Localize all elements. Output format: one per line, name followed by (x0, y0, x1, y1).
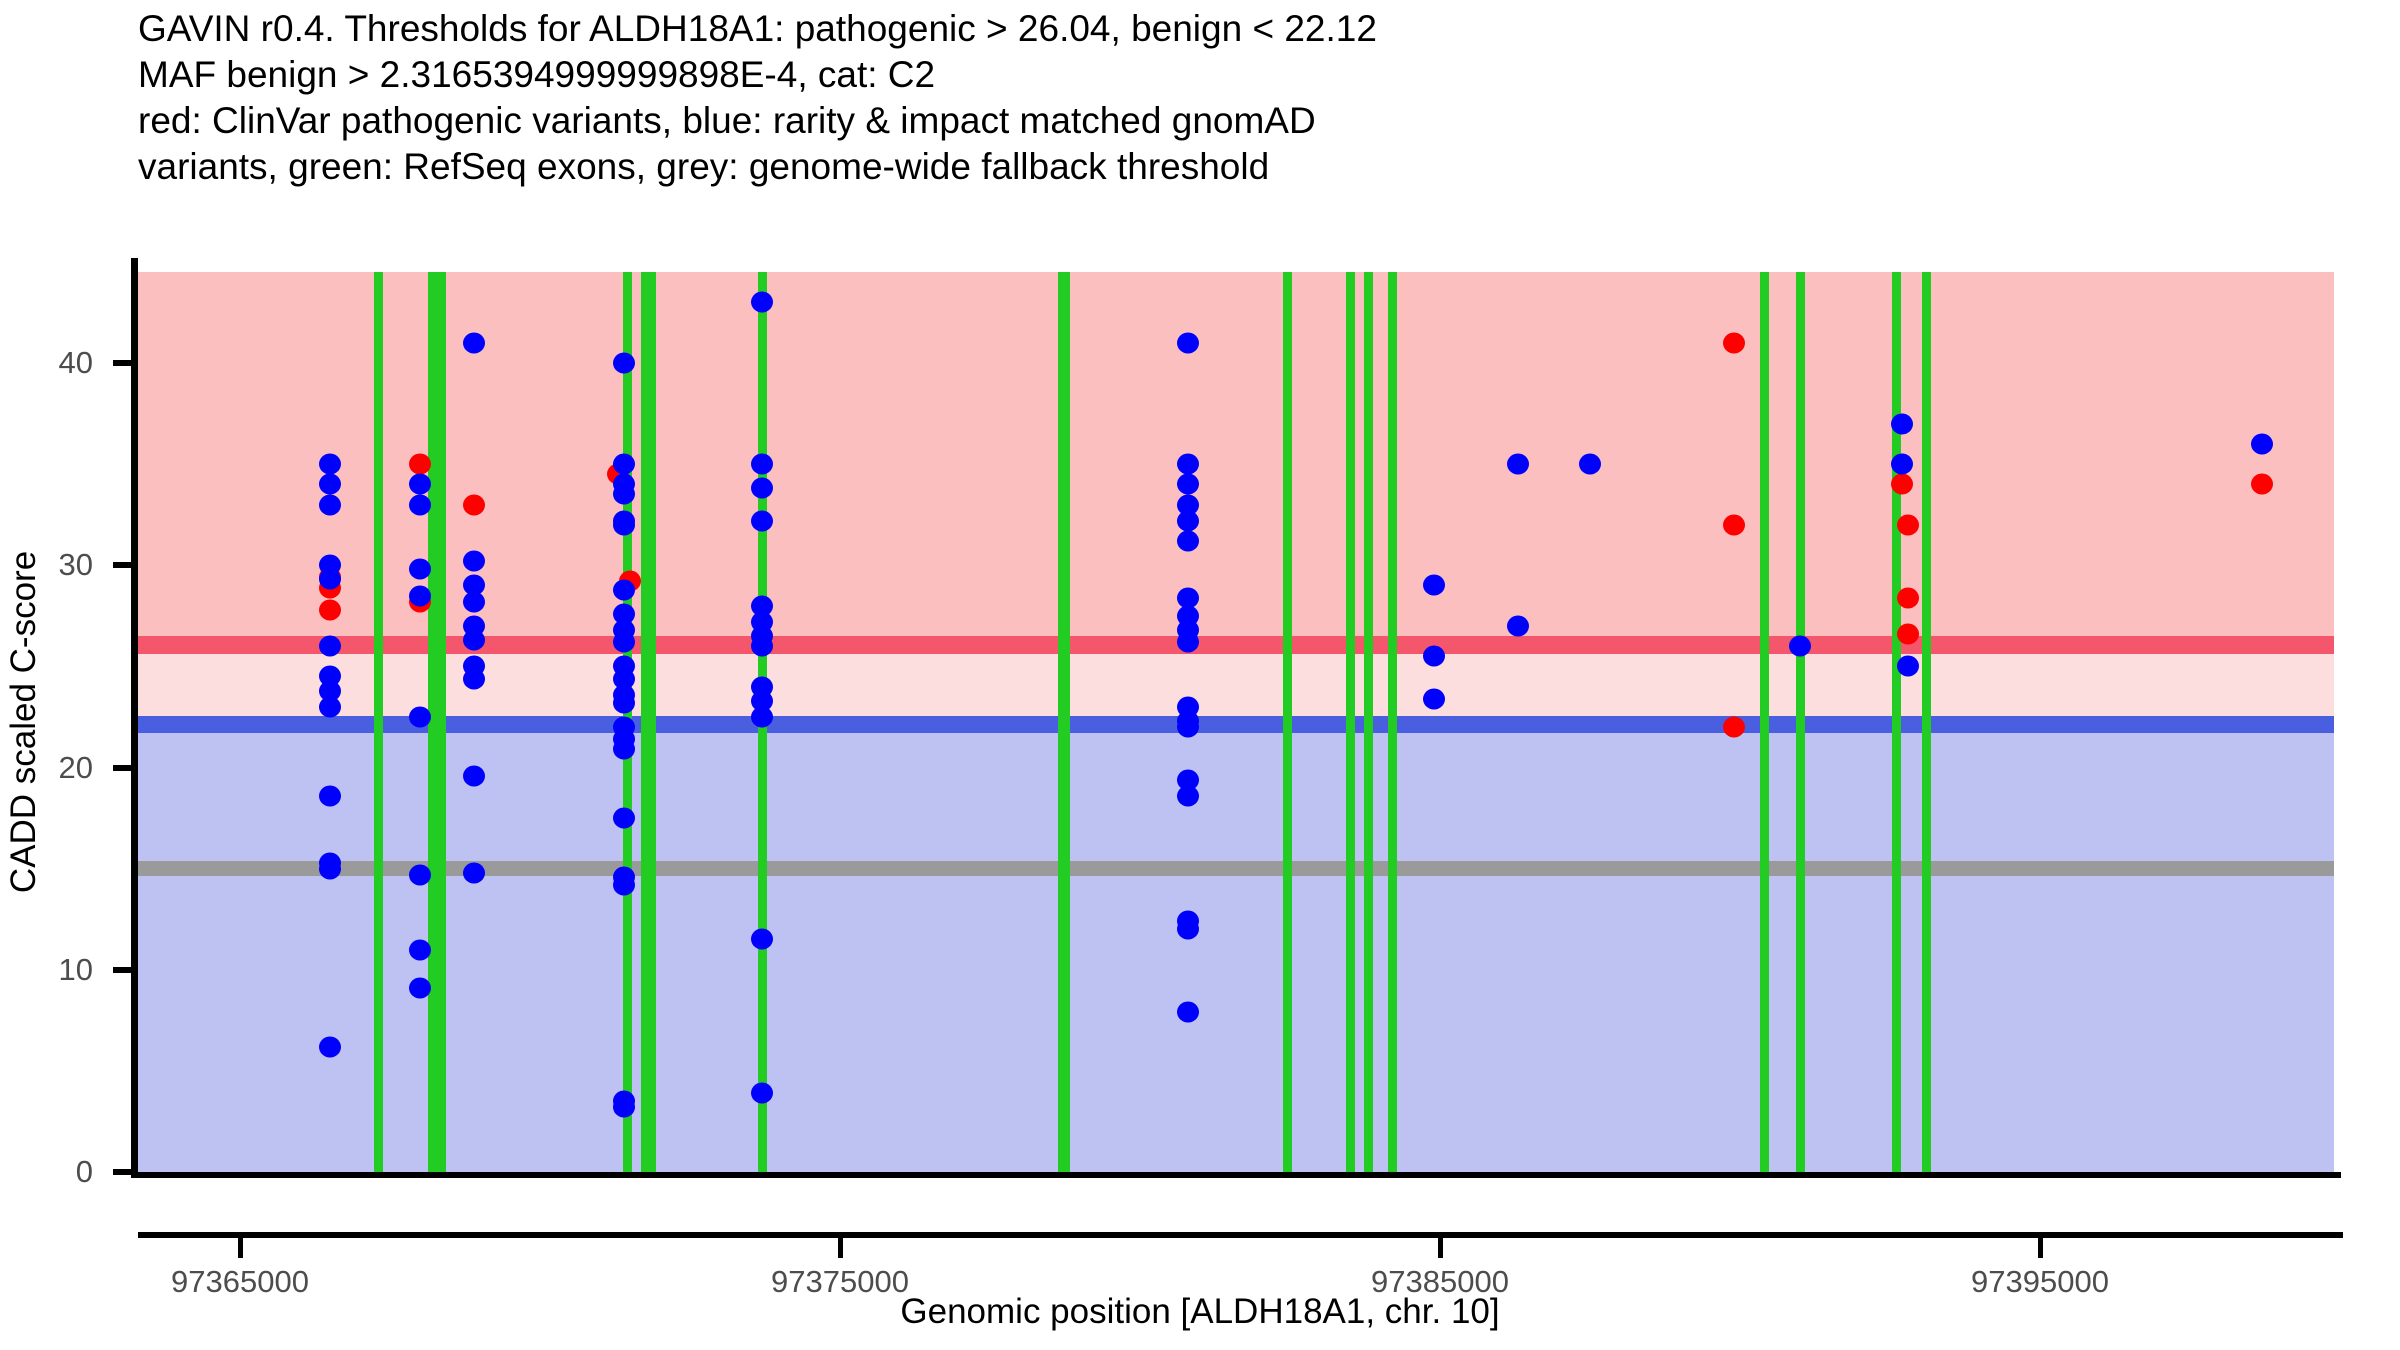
gnomad-variant-point (463, 551, 485, 572)
pathogenic-variant-point (463, 494, 485, 515)
gnomad-variant-point (751, 454, 773, 475)
x-axis-line (138, 1232, 2343, 1238)
gnomad-variant-point (751, 1083, 773, 1104)
gnomad-variant-point (613, 739, 635, 760)
gnomad-variant-point (1579, 454, 1601, 475)
y-axis-tick-mark (113, 562, 131, 568)
gnomad-variant-point (409, 559, 431, 580)
gnomad-variant-point (2251, 433, 2273, 454)
refseq-exon-marker (1346, 272, 1355, 1172)
refseq-exon-marker (437, 272, 446, 1172)
gnomad-variant-point (463, 332, 485, 353)
pathogenic-variant-point (1891, 474, 1913, 495)
benign-region (138, 733, 2334, 1172)
gnomad-variant-point (1177, 454, 1199, 475)
pathogenic-variant-point (2251, 474, 2273, 495)
x-axis-tick-mark (838, 1238, 843, 1258)
gnomad-variant-point (409, 864, 431, 885)
gnomad-variant-point (1177, 717, 1199, 738)
title-line-4: variants, green: RefSeq exons, grey: gen… (138, 144, 2238, 190)
pathogenic-variant-point (1897, 624, 1919, 645)
y-axis-tick-label: 0 (76, 1154, 93, 1190)
y-axis-tick-label: 20 (59, 750, 93, 786)
refseq-exon-marker (1283, 272, 1292, 1172)
gnomad-variant-point (409, 939, 431, 960)
chart-root: GAVIN r0.4. Thresholds for ALDH18A1: pat… (0, 0, 2400, 1350)
gnomad-variant-point (613, 353, 635, 374)
refseq-exon-marker (1922, 272, 1931, 1172)
gnomad-variant-point (463, 862, 485, 883)
gnomad-variant-point (751, 706, 773, 727)
refseq-exon-marker (1388, 272, 1397, 1172)
pathogenic-variant-point (319, 599, 341, 620)
refseq-exon-marker (374, 272, 383, 1172)
y-axis-tick-mark (113, 1169, 131, 1175)
gnomad-variant-point (613, 808, 635, 829)
refseq-exon-marker (1892, 272, 1901, 1172)
title-line-3: red: ClinVar pathogenic variants, blue: … (138, 98, 2238, 144)
x-axis-baseline (131, 1172, 2341, 1178)
benign-threshold (138, 716, 2334, 733)
gnomad-variant-point (409, 494, 431, 515)
refseq-exon-marker (647, 272, 656, 1172)
gnomad-variant-point (463, 668, 485, 689)
y-axis-title: CADD scaled C-score (4, 551, 44, 893)
gnomad-variant-point (1177, 510, 1199, 531)
x-axis-tick-mark (2038, 1238, 2043, 1258)
gnomad-variant-point (319, 569, 341, 590)
y-axis-tick-label: 30 (59, 547, 93, 583)
gnomad-variant-point (319, 858, 341, 879)
y-axis-tick-mark (113, 765, 131, 771)
title-line-2: MAF benign > 2.3165394999999898E-4, cat:… (138, 52, 2238, 98)
gnomad-variant-point (613, 632, 635, 653)
chart-title-block: GAVIN r0.4. Thresholds for ALDH18A1: pat… (138, 6, 2238, 190)
refseq-exon-marker (1796, 272, 1805, 1172)
plot-panel (138, 272, 2334, 1172)
gnomad-variant-point (1423, 575, 1445, 596)
gnomad-variant-point (1423, 646, 1445, 667)
y-axis-tick-label: 10 (59, 952, 93, 988)
x-axis-title: Genomic position [ALDH18A1, chr. 10] (0, 1292, 2400, 1332)
gnomad-variant-point (1177, 632, 1199, 653)
gnomad-variant-point (409, 474, 431, 495)
gnomad-variant-point (409, 977, 431, 998)
y-axis-line (131, 258, 138, 1178)
gnomad-variant-point (613, 514, 635, 535)
refseq-exon-marker (1364, 272, 1373, 1172)
gnomad-variant-point (751, 636, 773, 657)
x-axis-tick-mark (238, 1238, 243, 1258)
gnomad-variant-point (751, 292, 773, 313)
pathogenic-variant-point (1723, 514, 1745, 535)
gnomad-variant-point (751, 510, 773, 531)
gnomad-variant-point (751, 478, 773, 499)
pathogenic-variant-point (1897, 587, 1919, 608)
gnomad-variant-point (1891, 413, 1913, 434)
gnomad-variant-point (1891, 454, 1913, 475)
title-line-1: GAVIN r0.4. Thresholds for ALDH18A1: pat… (138, 6, 2238, 52)
pathogenic-variant-point (1897, 514, 1919, 535)
gnomad-variant-point (751, 929, 773, 950)
gnomad-variant-point (319, 494, 341, 515)
refseq-exon-marker (1760, 272, 1769, 1172)
gnomad-variant-point (613, 692, 635, 713)
y-axis-tick-mark (113, 360, 131, 366)
gnomad-variant-point (319, 1036, 341, 1057)
gnomad-variant-point (1177, 474, 1199, 495)
gnomad-variant-point (1507, 454, 1529, 475)
gnomad-variant-point (1177, 332, 1199, 353)
gnomad-variant-point (319, 696, 341, 717)
gnomad-variant-point (613, 454, 635, 475)
pathogenic-variant-point (1723, 332, 1745, 353)
gnomad-variant-point (1177, 785, 1199, 806)
gnomad-variant-point (463, 630, 485, 651)
gnomad-variant-point (1177, 1002, 1199, 1023)
gnomad-variant-point (319, 454, 341, 475)
gnomad-variant-point (1423, 688, 1445, 709)
pathogenic-variant-point (409, 454, 431, 475)
x-axis-tick-mark (1438, 1238, 1443, 1258)
gnomad-variant-point (409, 585, 431, 606)
plot-frame (138, 272, 2334, 1172)
gnomad-variant-point (613, 874, 635, 895)
gnomad-variant-point (1897, 656, 1919, 677)
gnomad-variant-point (409, 706, 431, 727)
gnomad-variant-point (1177, 530, 1199, 551)
pathogenic-variant-point (1723, 717, 1745, 738)
gnomad-variant-point (319, 785, 341, 806)
gnomad-variant-point (319, 636, 341, 657)
gnomad-variant-point (1789, 636, 1811, 657)
gnomad-variant-point (613, 1097, 635, 1118)
gnomad-variant-point (1177, 919, 1199, 940)
y-axis-tick-mark (113, 967, 131, 973)
gnomad-variant-point (463, 591, 485, 612)
gnomad-variant-point (1507, 615, 1529, 636)
gnomad-variant-point (463, 765, 485, 786)
gnomad-variant-point (319, 474, 341, 495)
y-axis-tick-label: 40 (59, 345, 93, 381)
gnomad-variant-point (613, 484, 635, 505)
refseq-exon-marker (1061, 272, 1070, 1172)
gnomad-variant-point (613, 579, 635, 600)
